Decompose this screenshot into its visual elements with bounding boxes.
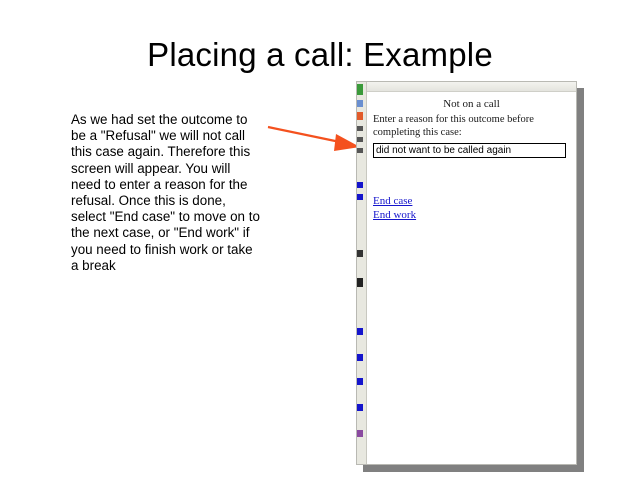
sliver-green-block — [357, 84, 363, 95]
sliver-fragment — [357, 250, 363, 257]
window-content: Not on a call Enter a reason for this ou… — [367, 92, 576, 464]
sliver-fragment — [357, 112, 363, 120]
sliver-fragment — [357, 378, 363, 385]
sliver-fragment — [357, 328, 363, 335]
sliver-fragment — [357, 194, 363, 200]
sliver-fragment — [357, 100, 363, 107]
sliver-fragment — [357, 137, 363, 142]
slide-canvas: Placing a call: Example As we had set th… — [0, 0, 640, 480]
window-toolbar-strip — [367, 82, 576, 92]
window-heading: Not on a call — [367, 98, 576, 110]
sliver-fragment — [357, 148, 363, 153]
sliver-fragment — [357, 404, 363, 411]
sliver-fragment — [357, 182, 363, 188]
sliver-fragment — [357, 126, 363, 131]
page-title: Placing a call: Example — [0, 36, 640, 74]
slide-body-text: As we had set the outcome to be a "Refus… — [71, 112, 261, 274]
red-arrow-icon — [264, 118, 368, 158]
end-case-link[interactable]: End case — [373, 194, 576, 208]
arrow-shaft — [268, 127, 340, 142]
sliver-fragment — [357, 430, 363, 437]
reason-input[interactable] — [373, 143, 566, 158]
sliver-fragment — [357, 354, 363, 361]
embedded-screenshot-window: Not on a call Enter a reason for this ou… — [356, 81, 577, 465]
clipped-background-page — [357, 82, 367, 464]
sliver-fragment — [357, 278, 363, 287]
window-links: End case End work — [373, 194, 576, 222]
end-work-link[interactable]: End work — [373, 208, 576, 222]
reason-prompt-label: Enter a reason for this outcome before c… — [373, 113, 570, 139]
